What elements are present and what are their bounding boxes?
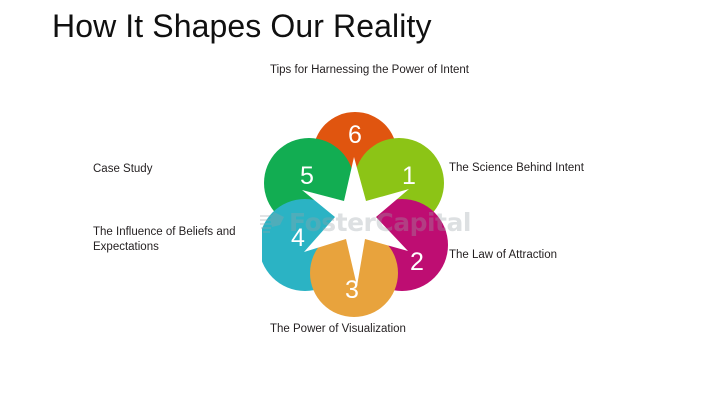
- petal-label-3[interactable]: The Power of Visualization: [270, 322, 460, 337]
- petal-label-6[interactable]: Tips for Harnessing the Power of Intent: [270, 63, 470, 78]
- six-petal-diagram: 6 5 1 4 2 3: [262, 105, 448, 320]
- page-title: How It Shapes Our Reality: [52, 6, 432, 46]
- petal-label-4[interactable]: The Influence of Beliefs and Expectation…: [93, 225, 275, 255]
- petal-label-2[interactable]: The Law of Attraction: [449, 248, 619, 263]
- petal-label-5[interactable]: Case Study: [93, 162, 253, 177]
- slide-canvas: How It Shapes Our Reality 6 5 1 4 2 3 Ti…: [0, 0, 720, 410]
- petal-label-1[interactable]: The Science Behind Intent: [449, 161, 619, 176]
- petal-circles-graphic: [262, 105, 448, 320]
